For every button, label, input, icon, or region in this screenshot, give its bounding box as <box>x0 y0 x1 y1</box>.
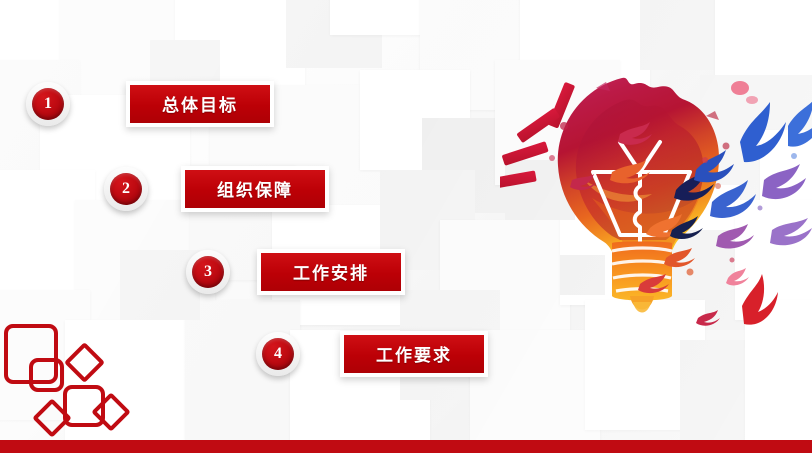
watercolor-lightbulb-artwork <box>500 30 812 390</box>
agenda-item-3[interactable]: 3 工作安排 <box>186 249 405 295</box>
step-label-plate-2[interactable]: 组织保障 <box>181 166 329 212</box>
step-label-2: 组织保障 <box>185 170 325 208</box>
step-badge-1: 1 <box>26 82 70 126</box>
step-badge-3: 3 <box>186 250 230 294</box>
bird-icon <box>696 310 720 326</box>
diamond-shape-upper <box>64 342 105 383</box>
step-badge-4: 4 <box>256 332 300 376</box>
step-label-3: 工作安排 <box>261 253 401 291</box>
agenda-item-2[interactable]: 2 组织保障 <box>104 166 329 212</box>
step-number-4: 4 <box>262 338 294 370</box>
bird-icon <box>746 96 758 104</box>
step-label-plate-1[interactable]: 总体目标 <box>126 81 274 127</box>
bird-icon <box>762 164 806 199</box>
bird-icon <box>740 102 786 162</box>
step-label-plate-3[interactable]: 工作安排 <box>257 249 405 295</box>
step-badge-2: 2 <box>104 167 148 211</box>
bird-icon <box>726 268 749 285</box>
step-label-4: 工作要求 <box>344 335 484 373</box>
footer-red-bar <box>0 440 812 453</box>
step-number-2: 2 <box>110 173 142 205</box>
bird-icon <box>731 81 749 95</box>
agenda-item-1[interactable]: 1 总体目标 <box>26 81 274 127</box>
bird-icon <box>770 218 812 245</box>
step-number-3: 3 <box>192 256 224 288</box>
bird-icon <box>742 274 778 325</box>
rounded-square-shape-small <box>29 358 64 392</box>
step-number-1: 1 <box>32 88 64 120</box>
agenda-item-4[interactable]: 4 工作要求 <box>256 331 488 377</box>
step-label-plate-4[interactable]: 工作要求 <box>340 331 488 377</box>
step-label-1: 总体目标 <box>130 85 270 123</box>
bird-icon <box>788 100 812 147</box>
agenda-slide: 1 总体目标 2 组织保障 3 工作安排 <box>0 0 812 453</box>
decorative-shapes <box>0 310 150 440</box>
bird-icon <box>716 224 754 249</box>
